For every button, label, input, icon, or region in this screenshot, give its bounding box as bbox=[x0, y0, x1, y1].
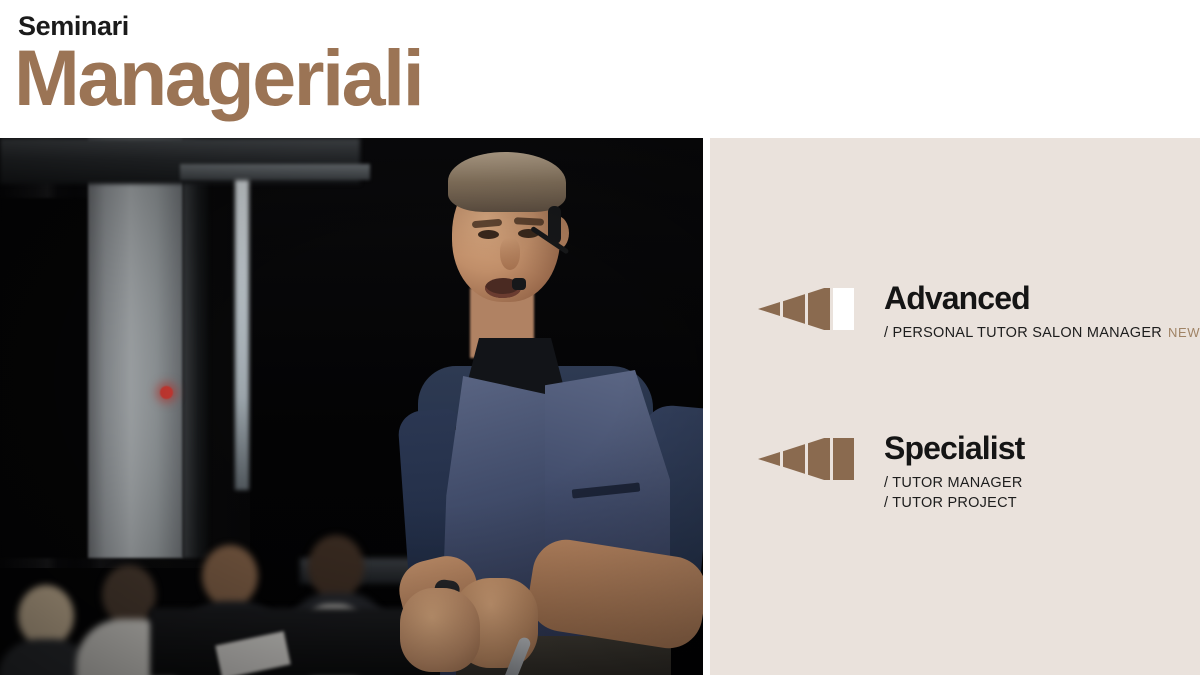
speaker-figure bbox=[0, 138, 703, 675]
level-course-list: / PERSONAL TUTOR SALON MANAGERNEW bbox=[884, 323, 1194, 343]
speaker-nose bbox=[500, 238, 520, 270]
speaker-left-eye bbox=[478, 230, 499, 239]
status-badge: NEW bbox=[1168, 325, 1200, 340]
page-title: Manageriali bbox=[14, 38, 422, 117]
level-title: Specialist bbox=[884, 432, 1194, 466]
list-item[interactable]: / TUTOR MANAGER bbox=[884, 473, 1194, 493]
levels-panel: Advanced / PERSONAL TUTOR SALON MANAGERN… bbox=[710, 138, 1200, 675]
list-item[interactable]: / TUTOR PROJECT bbox=[884, 493, 1194, 513]
level-text-specialist: Specialist / TUTOR MANAGER / TUTOR PROJE… bbox=[884, 432, 1194, 513]
speaker-hair bbox=[448, 152, 566, 212]
speaker-right-eyebrow bbox=[514, 217, 544, 226]
wedge-svg bbox=[758, 438, 854, 480]
speaker-photo bbox=[0, 138, 703, 675]
photo-scene bbox=[0, 138, 703, 675]
course-label: / TUTOR PROJECT bbox=[884, 495, 1017, 511]
wedge-svg bbox=[758, 288, 854, 330]
level-text-advanced: Advanced / PERSONAL TUTOR SALON MANAGERN… bbox=[884, 282, 1194, 343]
slide-root: Seminari Manageriali bbox=[0, 0, 1200, 675]
chevron-wedge-3of4-icon bbox=[758, 288, 854, 330]
list-item[interactable]: / PERSONAL TUTOR SALON MANAGERNEW bbox=[884, 323, 1194, 343]
slide-header: Seminari Manageriali bbox=[0, 0, 1200, 138]
headset-mic-capsule bbox=[512, 278, 526, 290]
course-label: / PERSONAL TUTOR SALON MANAGER bbox=[884, 325, 1162, 341]
level-course-list: / TUTOR MANAGER / TUTOR PROJECT bbox=[884, 473, 1194, 513]
level-title: Advanced bbox=[884, 282, 1194, 316]
speaker-left-hand bbox=[400, 588, 480, 672]
course-label: / TUTOR MANAGER bbox=[884, 475, 1023, 491]
chevron-wedge-4of4-icon bbox=[758, 438, 854, 480]
